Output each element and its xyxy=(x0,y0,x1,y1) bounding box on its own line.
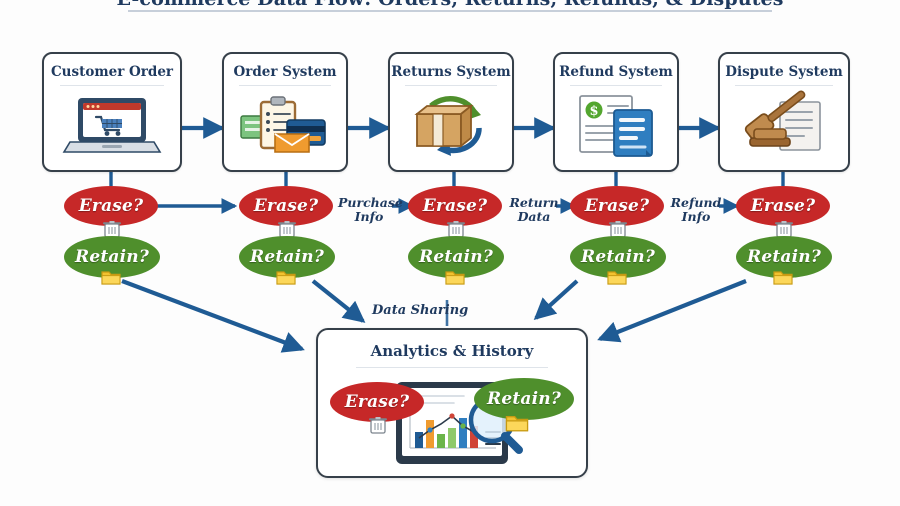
stage-divider xyxy=(735,85,832,86)
flow-label-data-sharing: Data Sharing xyxy=(372,303,468,318)
retain-label: Retain? xyxy=(250,247,324,267)
return-box-arrows-icon xyxy=(390,88,512,160)
erase-label: Erase? xyxy=(423,196,487,216)
erase-label: Erase? xyxy=(345,392,409,412)
retain-label: Retain? xyxy=(581,247,655,267)
stage-divider xyxy=(60,85,163,86)
erase-label: Erase? xyxy=(585,196,649,216)
flow-label-return-data: Return Data xyxy=(503,196,565,224)
erase-label: Erase? xyxy=(254,196,318,216)
folder-icon xyxy=(772,268,794,290)
stage-title: Refund System xyxy=(555,64,677,80)
analytics-title: Analytics & History xyxy=(318,342,586,360)
stage-box-returns-system[interactable]: Returns System xyxy=(388,52,514,172)
stage-title: Returns System xyxy=(390,64,512,80)
stage-box-dispute-system[interactable]: Dispute System xyxy=(718,52,850,172)
diagram-canvas: E-commerce Data Flow: Orders, Returns, R… xyxy=(0,0,900,506)
clipboard-credit-card-icon xyxy=(224,88,346,160)
analytics-divider xyxy=(356,367,549,368)
title-divider xyxy=(128,10,772,12)
folder-icon xyxy=(444,268,466,290)
invoice-dollar-icon: $ xyxy=(555,88,677,160)
folder-icon xyxy=(504,412,526,434)
stage-box-refund-system[interactable]: Refund System $ xyxy=(553,52,679,172)
stage-title: Customer Order xyxy=(44,64,180,80)
retain-label: Retain? xyxy=(75,247,149,267)
retain-label: Retain? xyxy=(747,247,821,267)
stage-title: Order System xyxy=(224,64,346,80)
stage-box-order-system[interactable]: Order System xyxy=(222,52,348,172)
retain-label: Retain? xyxy=(419,247,493,267)
flow-label-purchase-info: Purchase Info xyxy=(338,196,400,224)
erase-label: Erase? xyxy=(79,196,143,216)
analytics-history-panel[interactable]: Analytics & History xyxy=(316,328,588,478)
stage-box-customer-order[interactable]: Customer Order xyxy=(42,52,182,172)
laptop-shopping-cart-icon xyxy=(44,88,180,160)
page-title: E-commerce Data Flow: Orders, Returns, R… xyxy=(0,0,900,10)
stage-divider xyxy=(405,85,498,86)
stage-title: Dispute System xyxy=(720,64,848,80)
erase-label: Erase? xyxy=(751,196,815,216)
folder-icon xyxy=(606,268,628,290)
gavel-document-icon xyxy=(720,88,848,160)
folder-icon xyxy=(100,268,122,290)
folder-icon xyxy=(275,268,297,290)
trash-can-icon xyxy=(367,414,389,436)
stage-divider xyxy=(239,85,332,86)
svg-text:$: $ xyxy=(589,104,598,119)
stage-divider xyxy=(570,85,663,86)
flow-label-refund-info: Refund Info xyxy=(665,196,727,224)
retain-label: Retain? xyxy=(487,389,561,409)
